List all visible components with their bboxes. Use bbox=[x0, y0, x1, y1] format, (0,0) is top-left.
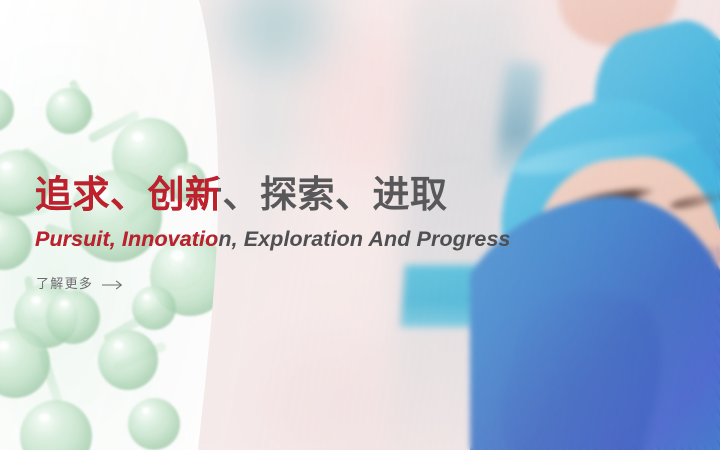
learn-more-link[interactable]: 了解更多 bbox=[36, 273, 124, 292]
hero-banner: 追求、创新、探索、进取 追求、创新、探索、进取 Pursuit, Innovat… bbox=[0, 0, 720, 450]
hero-content: 追求、创新、探索、进取 追求、创新、探索、进取 Pursuit, Innovat… bbox=[35, 0, 695, 450]
molecule-atom bbox=[0, 88, 14, 132]
arrow-right-icon bbox=[102, 279, 124, 289]
molecule-atom bbox=[0, 214, 32, 270]
learn-more-label: 了解更多 bbox=[36, 273, 93, 292]
